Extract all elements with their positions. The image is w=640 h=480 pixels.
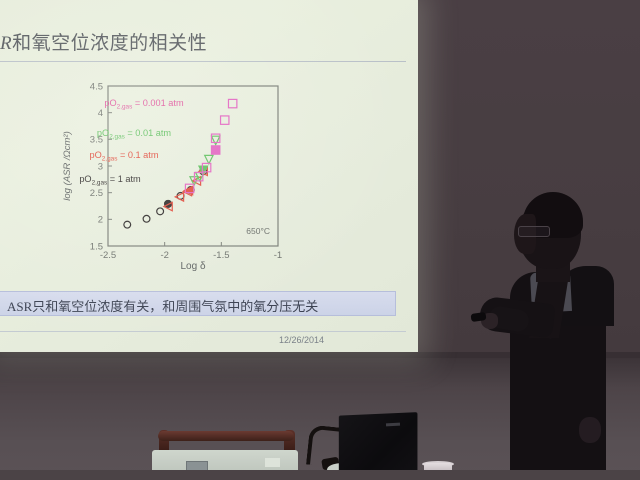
data-point (228, 99, 236, 107)
podium-paper-note (265, 458, 280, 467)
conclusion-banner-text: ASR只和氧空位浓度有关，和周围气氛中的氧分压无关 (7, 296, 318, 315)
data-point (157, 208, 164, 215)
y-tick-labels: 1.522.533.544.5 (90, 81, 103, 252)
data-markers (124, 99, 237, 228)
svg-text:pO2,gas = 0.001 atm: pO2,gas = 0.001 atm (104, 98, 184, 110)
plot-frame (108, 86, 278, 246)
conclusion-banner: ASR只和氧空位浓度有关，和周围气氛中的氧分压无关 (0, 291, 396, 316)
x-tick-label: -1.5 (213, 250, 229, 261)
presenter-hand-lower (579, 417, 601, 443)
legend-entry: pO2,gas = 1 atm (79, 174, 141, 186)
x-tick-label: -1 (274, 250, 282, 261)
slide-title: SR和氧空位浓度的相关性 (0, 28, 207, 55)
y-tick-label: 2.5 (90, 188, 103, 199)
data-point (211, 136, 219, 144)
x-tick-labels: -2.5-2-1.5-1 (100, 250, 282, 261)
y-tick-label: 4.5 (90, 81, 103, 92)
x-axis-label: Log δ (180, 261, 205, 272)
y-tick-label: 4 (98, 108, 103, 119)
svg-text:pO2,gas = 1 atm: pO2,gas = 1 atm (79, 174, 141, 186)
data-point (175, 193, 183, 201)
data-point (205, 155, 213, 163)
data-point (143, 215, 150, 222)
y-tick-label: 3 (98, 161, 103, 172)
title-divider (0, 61, 406, 62)
slide-title-cjk: 和氧空位浓度的相关性 (12, 33, 207, 54)
glasses-icon (518, 226, 550, 237)
x-tick-label: -2 (160, 250, 168, 261)
temperature-annotation: 650°C (246, 226, 270, 236)
axis-ticks (108, 86, 278, 246)
slide-date: 12/26/2014 (279, 335, 324, 345)
data-point (211, 146, 219, 154)
table-edge (0, 470, 640, 480)
legend-entry: pO2,gas = 0.001 atm (104, 98, 184, 110)
y-tick-label: 2 (98, 215, 103, 226)
slide-title-latin: SR (0, 33, 12, 54)
lecture-room-scene: SR和氧空位浓度的相关性 1.522.533.544.5 -2.5-2-1.5-… (0, 0, 640, 480)
data-point (221, 116, 229, 124)
chart-svg: 1.522.533.544.5 -2.5-2-1.5-1 log (ASR /Ω… (56, 76, 288, 272)
data-point (124, 221, 131, 228)
x-tick-label: -2.5 (100, 250, 116, 261)
projected-slide: SR和氧空位浓度的相关性 1.522.533.544.5 -2.5-2-1.5-… (0, 0, 418, 352)
footer-divider (0, 331, 406, 332)
y-axis-label: log (ASR /Ωcm²) (62, 131, 73, 201)
asr-vs-log-delta-chart: 1.522.533.544.5 -2.5-2-1.5-1 log (ASR /Ω… (56, 76, 288, 272)
podium-rail (158, 431, 294, 441)
